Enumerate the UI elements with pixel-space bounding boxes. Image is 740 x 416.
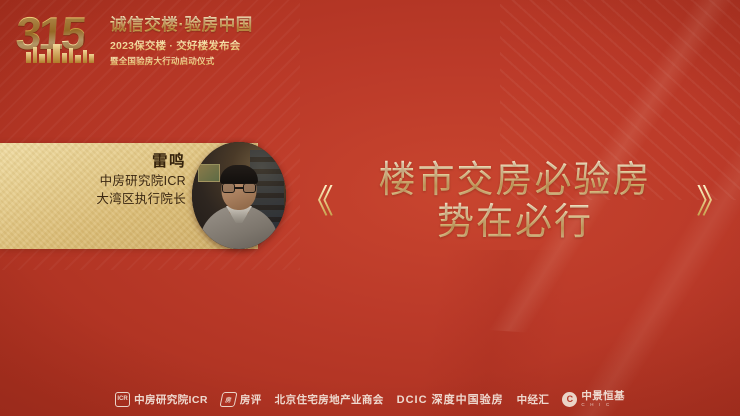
bracket-right-icon: 》 [696, 185, 730, 219]
logo-315: 315 [16, 8, 102, 72]
footer-logo-label: 中房研究院ICR [134, 392, 208, 407]
slide-title-lines: 楼市交房必验房 势在必行 [340, 160, 690, 244]
speaker-affiliation: 中房研究院ICR [0, 172, 186, 190]
chic-label-stack: 中景恒基 C H I C [581, 391, 625, 407]
chic-emblem-icon: C [562, 392, 577, 407]
portrait-glasses-icon [222, 183, 256, 193]
speaker-info: 雷鸣 中房研究院ICR 大湾区执行院长 [0, 152, 196, 208]
speaker-portrait-avatar [192, 142, 286, 249]
event-header: 315 诚信交楼·验房中国 2023保交楼 · 交好楼发布会 暨全国验房大行动启… [16, 8, 253, 72]
footer-logo-label: 房评 [240, 392, 262, 407]
slide-title-line-2: 势在必行 [340, 202, 690, 244]
footer-logo-label: 北京住宅房地产业商会 [275, 392, 384, 407]
speaker-name: 雷鸣 [0, 152, 186, 172]
footer-logo-dcic: DCIC 深度中国验房 [397, 391, 504, 407]
portrait-wall-picture [198, 164, 220, 182]
footer-logo-icr: ICR 中房研究院ICR [115, 392, 208, 407]
event-subtitle-1: 2023保交楼 · 交好楼发布会 [110, 38, 253, 53]
footer-logo-zhongjinghui: 中经汇 [517, 392, 550, 407]
sponsor-footer: ICR 中房研究院ICR 房 房评 北京住宅房地产业商会 DCIC 深度中国验房… [0, 391, 740, 407]
event-header-text: 诚信交楼·验房中国 2023保交楼 · 交好楼发布会 暨全国验房大行动启动仪式 [110, 8, 253, 67]
presentation-slide: 315 诚信交楼·验房中国 2023保交楼 · 交好楼发布会 暨全国验房大行动启… [0, 0, 740, 416]
logo-315-skyline-icon [24, 41, 94, 63]
event-main-title: 诚信交楼·验房中国 [110, 16, 253, 35]
footer-logo-beijing-chamber: 北京住宅房地产业商会 [275, 392, 384, 407]
event-subtitle-2: 暨全国验房大行动启动仪式 [110, 55, 253, 67]
fangping-emblem-icon: 房 [219, 392, 237, 407]
portrait-hair [220, 165, 258, 184]
bracket-left-icon: 《 [300, 185, 334, 219]
footer-logo-sublabel: C H I C [581, 403, 625, 408]
footer-logo-label: 中经汇 [517, 392, 550, 407]
footer-logo-chic: C 中景恒基 C H I C [562, 391, 625, 407]
slide-title-block: 《 楼市交房必验房 势在必行 》 [300, 150, 730, 254]
icr-emblem-icon: ICR [115, 392, 130, 407]
footer-logo-label: DCIC 深度中国验房 [397, 391, 504, 407]
slide-title-line-1: 楼市交房必验房 [340, 160, 690, 202]
footer-logo-fangping: 房 房评 [221, 392, 262, 407]
footer-logo-label: 中景恒基 [581, 391, 625, 402]
speaker-position: 大湾区执行院长 [0, 190, 186, 208]
